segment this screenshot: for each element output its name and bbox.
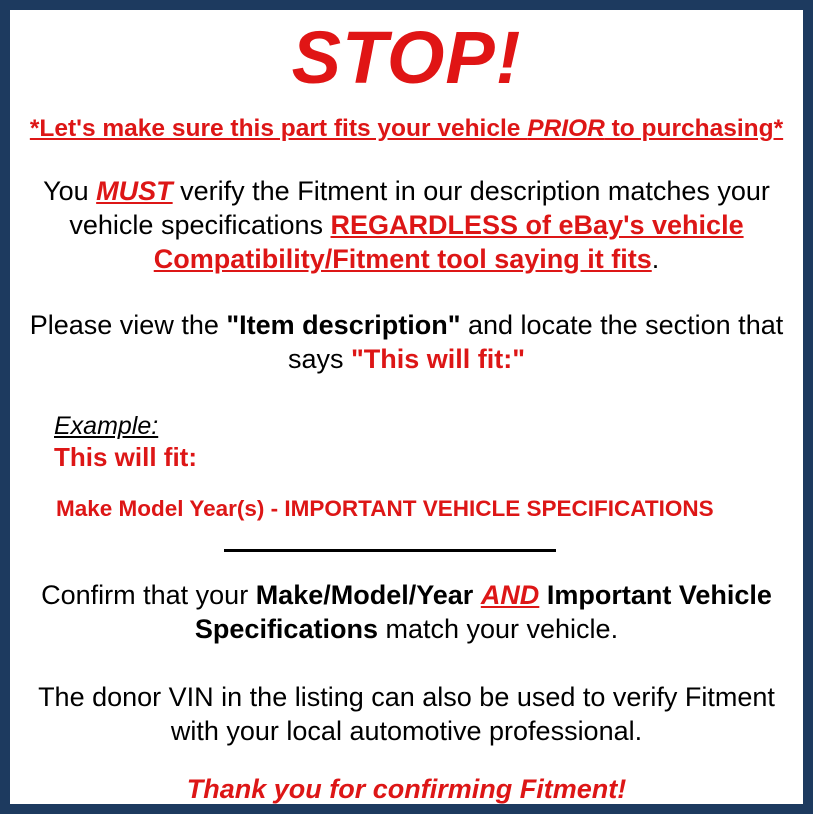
subtitle: *Let's make sure this part fits your veh… (10, 100, 803, 144)
example-will-fit-heading: This will fit: (54, 441, 803, 473)
notice-inner: STOP! *Let's make sure this part fits yo… (10, 10, 803, 804)
confirm-space-2 (539, 580, 547, 610)
must-tail-period: . (652, 244, 660, 274)
confirm-space-1 (473, 580, 481, 610)
view-lead-text: Please view the (30, 310, 227, 340)
subtitle-part1: *Let's make sure this part fits your veh… (30, 115, 527, 142)
view-redbold-this-will-fit: "This will fit:" (351, 344, 525, 374)
example-label-row: Example: (54, 412, 803, 441)
confirm-emphasis-and: AND (481, 580, 540, 610)
paragraph-item-description: Please view the "Item description" and l… (10, 276, 803, 376)
confirm-tail-text: match your vehicle. (378, 614, 618, 644)
divider-wrap (10, 523, 803, 552)
paragraph-must-verify: You MUST verify the Fitment in our descr… (10, 144, 803, 276)
example-block: Example: This will fit: Make Model Year(… (10, 376, 803, 523)
example-fitment-line: Make Model Year(s) - IMPORTANT VEHICLE S… (54, 473, 803, 523)
confirm-lead-text: Confirm that your (41, 580, 256, 610)
view-bold-item-description: "Item description" (226, 310, 460, 340)
subtitle-part2: to purchasing* (605, 115, 783, 142)
subtitle-emphasis-prior: PRIOR (527, 115, 605, 142)
must-lead-text: You (43, 176, 96, 206)
paragraph-donor-vin: The donor VIN in the listing can also be… (10, 646, 803, 748)
fitment-notice-banner: STOP! *Let's make sure this part fits yo… (0, 0, 813, 814)
must-emphasis: MUST (96, 176, 173, 206)
confirm-bold-make-model-year: Make/Model/Year (256, 580, 474, 610)
example-label: Example: (54, 412, 158, 441)
thanks-message: Thank you for confirming Fitment! (10, 748, 803, 806)
page-title: STOP! (10, 10, 803, 100)
paragraph-confirm-match: Confirm that your Make/Model/Year AND Im… (10, 552, 803, 646)
